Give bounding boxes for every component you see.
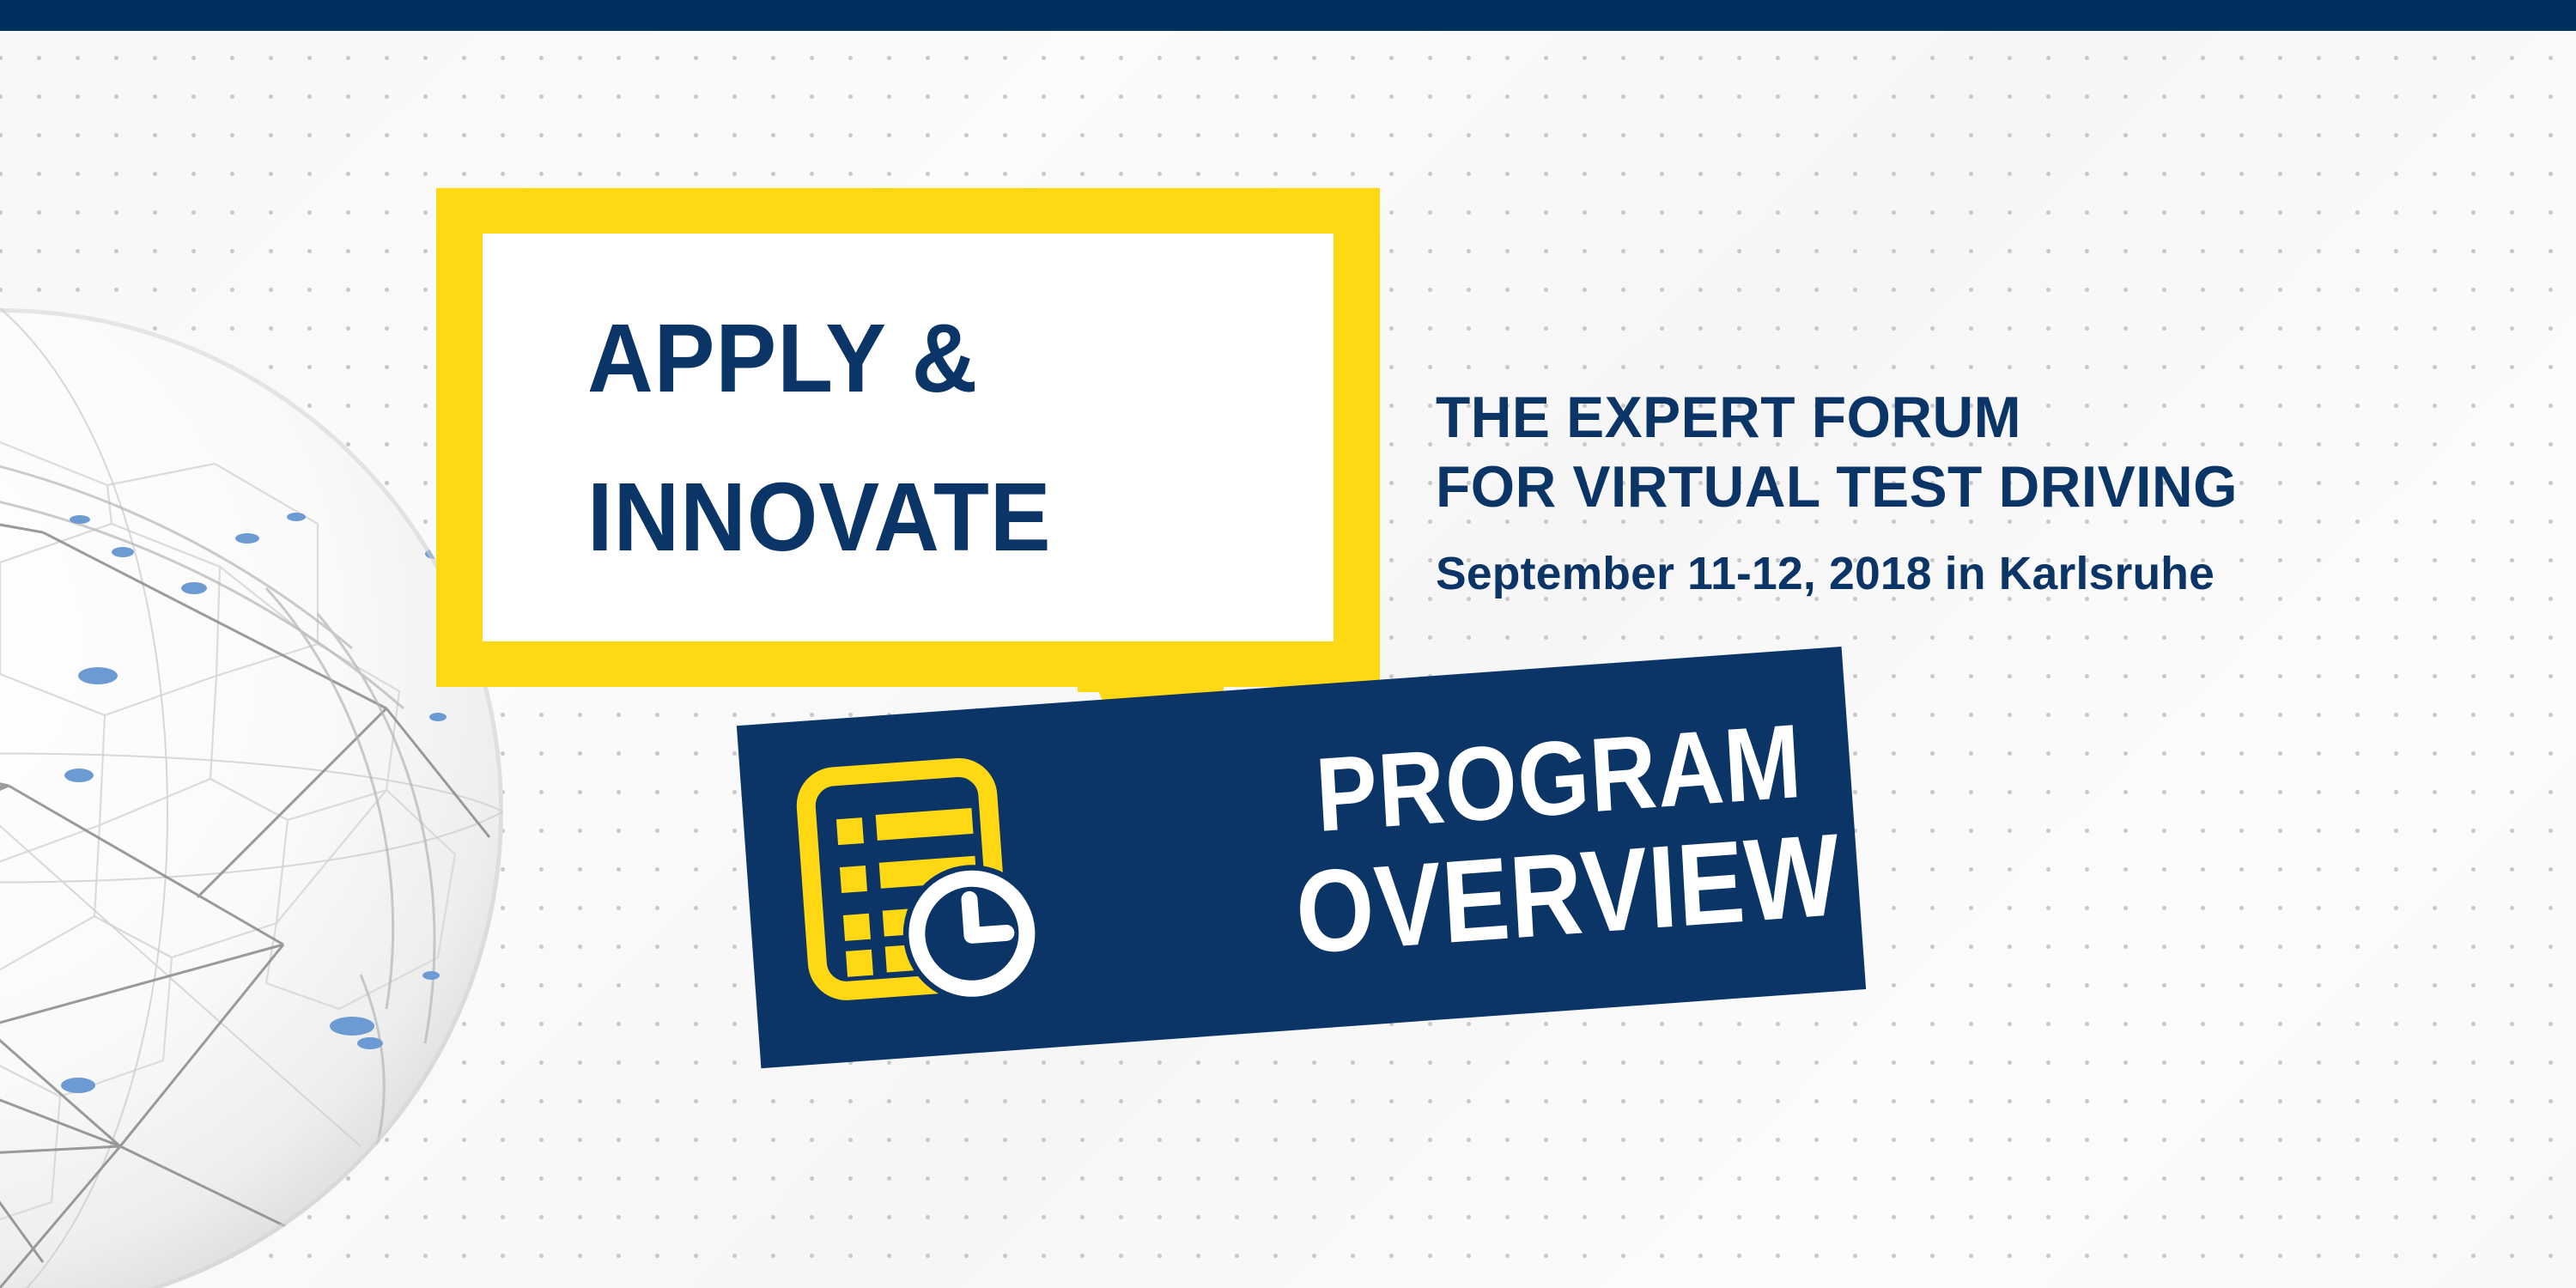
speech-bubble-line-2: INNOVATE xyxy=(587,469,1289,566)
headline-date-location: September 11-12, 2018 in Karlsruhe xyxy=(1436,547,2558,600)
poster-canvas: APPLY & INNOVATE THE EXPERT FORUM FOR VI… xyxy=(0,0,2576,1288)
speech-bubble-line-1: APPLY & xyxy=(587,310,1289,407)
speech-bubble-inner: APPLY & INNOVATE xyxy=(483,234,1334,641)
headline-block: THE EXPERT FORUM FOR VIRTUAL TEST DRIVIN… xyxy=(1436,388,2569,600)
top-navy-bar xyxy=(0,0,2576,31)
banner-text-block: PROGRAM OVERVIEW xyxy=(1030,673,1847,1022)
headline-line-2: FOR VIRTUAL TEST DRIVING xyxy=(1436,458,2535,517)
apply-innovate-speech-bubble: APPLY & INNOVATE xyxy=(436,188,1380,687)
headline-line-1: THE EXPERT FORUM xyxy=(1436,388,2535,447)
checklist-clock-icon xyxy=(792,751,1058,1018)
